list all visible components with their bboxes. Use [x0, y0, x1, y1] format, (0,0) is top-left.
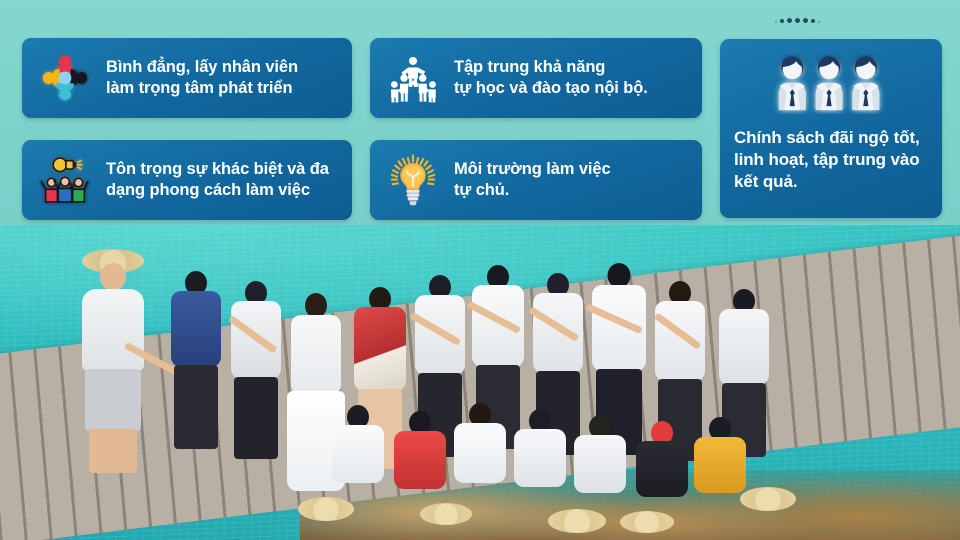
torso: [82, 289, 144, 371]
straw-hat: [548, 509, 606, 533]
person: [330, 405, 386, 505]
card-policy-text: Chính sách đãi ngộ tốt, linh hoạt, tập t…: [734, 127, 920, 193]
dot: [787, 18, 792, 23]
slide-canvas: Bình đẳng, lấy nhân viên làm trọng tâm p…: [0, 0, 960, 540]
dot: [795, 18, 800, 23]
lightbulb-icon: [384, 151, 442, 209]
card-autonomy-text: Môi trường làm việc tự chủ.: [454, 159, 611, 202]
person: [572, 415, 628, 515]
straw-hat: [420, 503, 472, 525]
people-puzzle-icon: [36, 49, 94, 107]
torso: [394, 431, 446, 489]
straw-hat: [620, 511, 674, 533]
decorative-dots: [775, 13, 820, 23]
diverse-team-lightbulb-icon: [36, 151, 94, 209]
team-group-photo: [0, 225, 960, 540]
person: [634, 421, 690, 519]
person: [168, 265, 224, 455]
dot: [803, 18, 808, 23]
torso: [354, 307, 406, 391]
dot: [811, 19, 815, 23]
dot: [780, 19, 784, 23]
legs: [174, 365, 218, 449]
torso: [454, 423, 506, 483]
card-diversity[interactable]: Tôn trọng sự khác biệt và đa dạng phong …: [22, 140, 352, 220]
card-equality[interactable]: Bình đẳng, lấy nhân viên làm trọng tâm p…: [22, 38, 352, 118]
card-learning-text: Tập trung khả năng tự học và đào tạo nội…: [454, 57, 648, 100]
torso: [574, 435, 626, 493]
card-autonomy[interactable]: Môi trường làm việc tự chủ.: [370, 140, 702, 220]
person: [512, 409, 568, 511]
straw-hat: [740, 487, 796, 511]
dot: [775, 21, 777, 23]
person: [78, 253, 148, 473]
card-learning[interactable]: Tập trung khả năng tự học và đào tạo nội…: [370, 38, 702, 118]
torso: [171, 291, 221, 367]
card-diversity-text: Tôn trọng sự khác biệt và đa dạng phong …: [106, 159, 329, 202]
torso: [694, 437, 746, 493]
torso: [291, 315, 341, 395]
head: [100, 263, 126, 291]
card-policy[interactable]: Chính sách đãi ngộ tốt, linh hoạt, tập t…: [720, 39, 942, 218]
shorts: [85, 369, 141, 431]
legs: [234, 377, 278, 459]
torso: [514, 429, 566, 487]
three-employees-icon: [771, 53, 891, 115]
person: [392, 411, 448, 511]
dot: [818, 21, 820, 23]
torso: [332, 425, 384, 483]
legs: [89, 429, 137, 473]
person: [228, 277, 284, 462]
card-equality-text: Bình đẳng, lấy nhân viên làm trọng tâm p…: [106, 57, 298, 100]
torso: [636, 441, 688, 497]
human-pyramid-icon: [384, 49, 442, 107]
crowd: [0, 225, 960, 540]
straw-hat: [298, 497, 354, 521]
person: [452, 403, 508, 508]
torso: [719, 309, 769, 385]
